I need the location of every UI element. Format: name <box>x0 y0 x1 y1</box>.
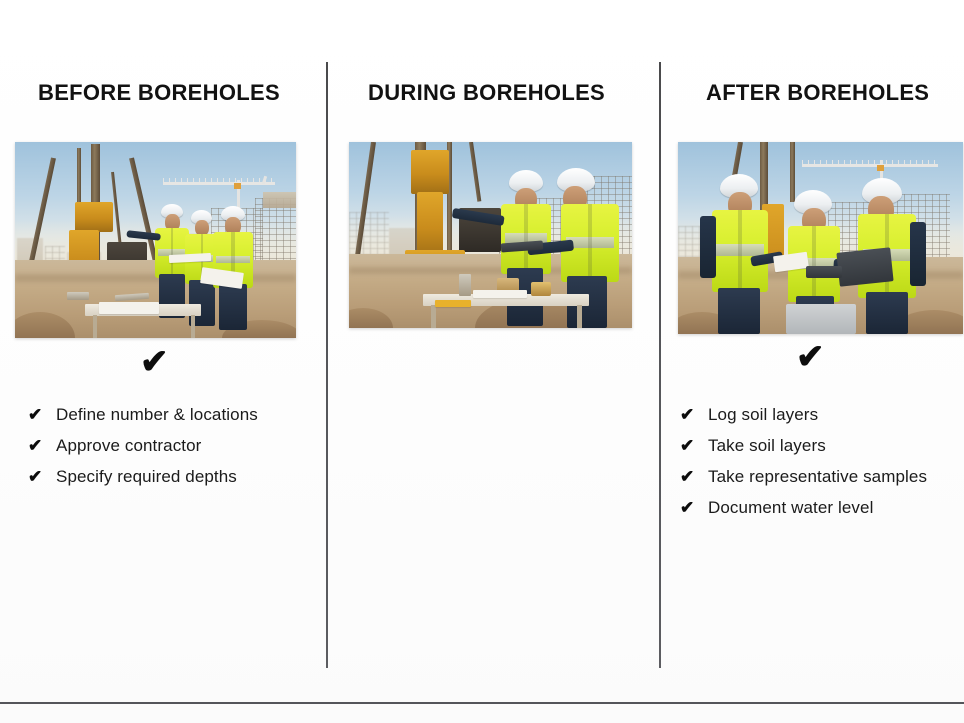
soil-sample-tube <box>67 292 89 300</box>
field-table-leg <box>191 315 195 338</box>
table-drawing <box>99 302 159 314</box>
list-item: ✔ Specify required depths <box>28 467 258 487</box>
crane-cab-icon <box>877 165 884 171</box>
column-after: AFTER BOREHOLES <box>661 0 964 700</box>
check-icon: ✔ <box>28 436 56 456</box>
drill-rig-mast-rail <box>790 142 795 202</box>
column-heading-after: AFTER BOREHOLES <box>706 80 929 106</box>
crane-cab-icon <box>234 183 241 189</box>
column-during: DURING BOREHOLES <box>328 0 659 700</box>
slide-canvas: BEFORE BOREHOLES <box>0 0 964 723</box>
column-heading-during: DURING BOREHOLES <box>368 80 605 106</box>
list-item-label: Approve contractor <box>56 436 201 456</box>
background-building-top <box>263 192 296 208</box>
photo-during-boreholes <box>349 142 632 328</box>
list-item: ✔ Approve contractor <box>28 436 258 456</box>
clipboard-report <box>836 247 893 286</box>
soil-sample-can <box>531 282 551 296</box>
laptop-device <box>786 304 856 334</box>
drill-rig-head <box>411 150 449 194</box>
worker-legs <box>718 288 760 334</box>
photo-after-boreholes <box>678 142 963 334</box>
check-icon: ✔ <box>28 405 56 425</box>
check-icon: ✔ <box>28 467 56 487</box>
list-item: ✔ Define number & locations <box>28 405 258 425</box>
drill-rig-column <box>417 192 443 258</box>
soil-sample-tube <box>459 274 471 296</box>
field-log-sheet <box>473 290 527 298</box>
bullet-list-before: ✔ Define number & locations ✔ Approve co… <box>28 405 258 498</box>
worker-sleeve <box>700 216 716 278</box>
field-table-leg <box>431 305 436 328</box>
photo-before-boreholes <box>15 142 296 338</box>
drill-rig-head <box>75 202 113 232</box>
drill-rig-mast <box>760 142 768 212</box>
field-table-leg <box>93 315 97 338</box>
field-table-leg <box>577 305 582 328</box>
worker-legs <box>866 292 908 334</box>
measuring-tape <box>435 300 471 307</box>
hi-vis-vest <box>501 204 551 274</box>
bottom-rule <box>0 702 964 704</box>
column-heading-before: BEFORE BOREHOLES <box>38 80 280 106</box>
crane-jib-icon <box>163 182 275 185</box>
worker-sleeve <box>910 222 926 286</box>
list-item-label: Specify required depths <box>56 467 237 487</box>
hi-vis-vest <box>712 210 768 292</box>
crane-jib-icon <box>802 164 938 167</box>
soil-sample-tray <box>806 266 842 278</box>
list-item-label: Define number & locations <box>56 405 258 425</box>
worker-legs <box>219 284 247 330</box>
stage-check-before-icon: ✔ <box>140 345 169 379</box>
column-divider-1 <box>326 62 328 668</box>
column-divider-2 <box>659 62 661 668</box>
column-before: BEFORE BOREHOLES <box>0 0 326 700</box>
